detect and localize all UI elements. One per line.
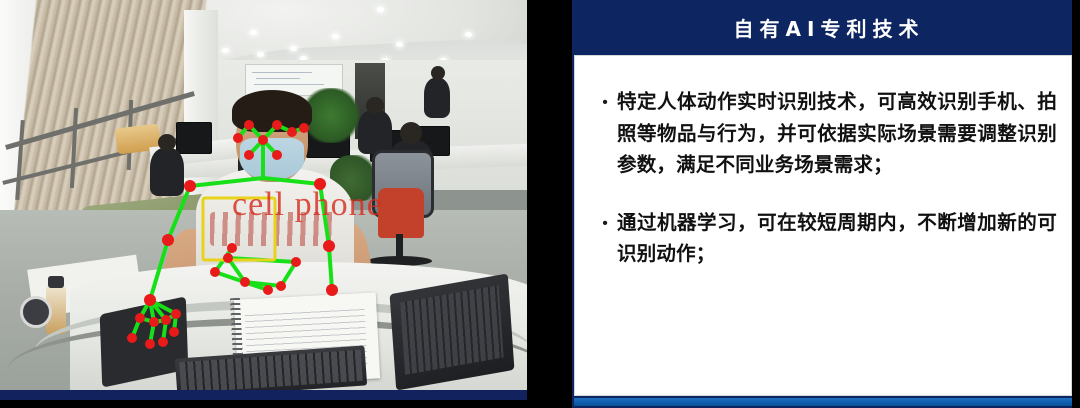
- bullet-marker: •: [593, 86, 617, 111]
- background-person-head: [158, 134, 176, 151]
- ceiling-light: [257, 52, 264, 57]
- ceiling-light: [396, 42, 403, 47]
- slide-accent-bar: [574, 398, 1072, 406]
- monitor: [176, 122, 212, 154]
- right-gutter: [1072, 0, 1080, 408]
- video-frame: cell phone: [0, 0, 527, 392]
- bullet-marker: •: [593, 207, 617, 232]
- video-bottom-navy-strip: [0, 390, 527, 400]
- ceiling-light: [290, 46, 297, 51]
- bullet-list: • 特定人体动作实时识别技术，可高效识别手机、拍照等物品与行为，并可依据实际场景…: [593, 86, 1057, 296]
- subject-face-mask: [240, 138, 304, 180]
- background-person-head: [431, 66, 445, 80]
- ceiling-light: [377, 7, 384, 12]
- bullet-text: 通过机器学习，可在较短周期内，不断增加新的可识别动作；: [617, 207, 1057, 270]
- background-person: [150, 148, 184, 196]
- slide-title: 自有AI专利技术: [572, 0, 1080, 54]
- background-person-head: [400, 122, 422, 144]
- detection-class-label: cell phone: [232, 186, 383, 224]
- slide-content-card: • 特定人体动作实时识别技术，可高效识别手机、拍照等物品与行为，并可依据实际场景…: [574, 55, 1072, 396]
- ceiling-light: [250, 30, 257, 35]
- subject-hair: [232, 90, 312, 132]
- video-bottom-black-strip: [0, 400, 527, 408]
- ceiling-light: [332, 34, 339, 39]
- surveillance-video-panel[interactable]: cell phone: [0, 0, 527, 408]
- ceiling-light: [222, 48, 229, 53]
- bullet-text: 特定人体动作实时识别技术，可高效识别手机、拍照等物品与行为，并可依据实际场景需要…: [617, 86, 1057, 181]
- presentation-slide: 自有AI专利技术 • 特定人体动作实时识别技术，可高效识别手机、拍照等物品与行为…: [572, 0, 1080, 408]
- office-chair-seat: [378, 188, 424, 238]
- laptop: [390, 273, 515, 390]
- background-person: [424, 78, 450, 118]
- list-item: • 特定人体动作实时识别技术，可高效识别手机、拍照等物品与行为，并可依据实际场景…: [593, 86, 1057, 181]
- bottle-cap: [48, 276, 64, 288]
- list-item: • 通过机器学习，可在较短周期内，不断增加新的可识别动作；: [593, 207, 1057, 270]
- desk-cup: [20, 296, 52, 328]
- ceiling-light: [465, 32, 472, 37]
- background-person-head: [366, 97, 384, 114]
- background-person: [358, 110, 392, 154]
- screenshot-root: cell phone 自有AI专利技术 • 特定人体动作实时识别技术，可高效识别…: [0, 0, 1080, 408]
- left-gutter: [527, 0, 572, 408]
